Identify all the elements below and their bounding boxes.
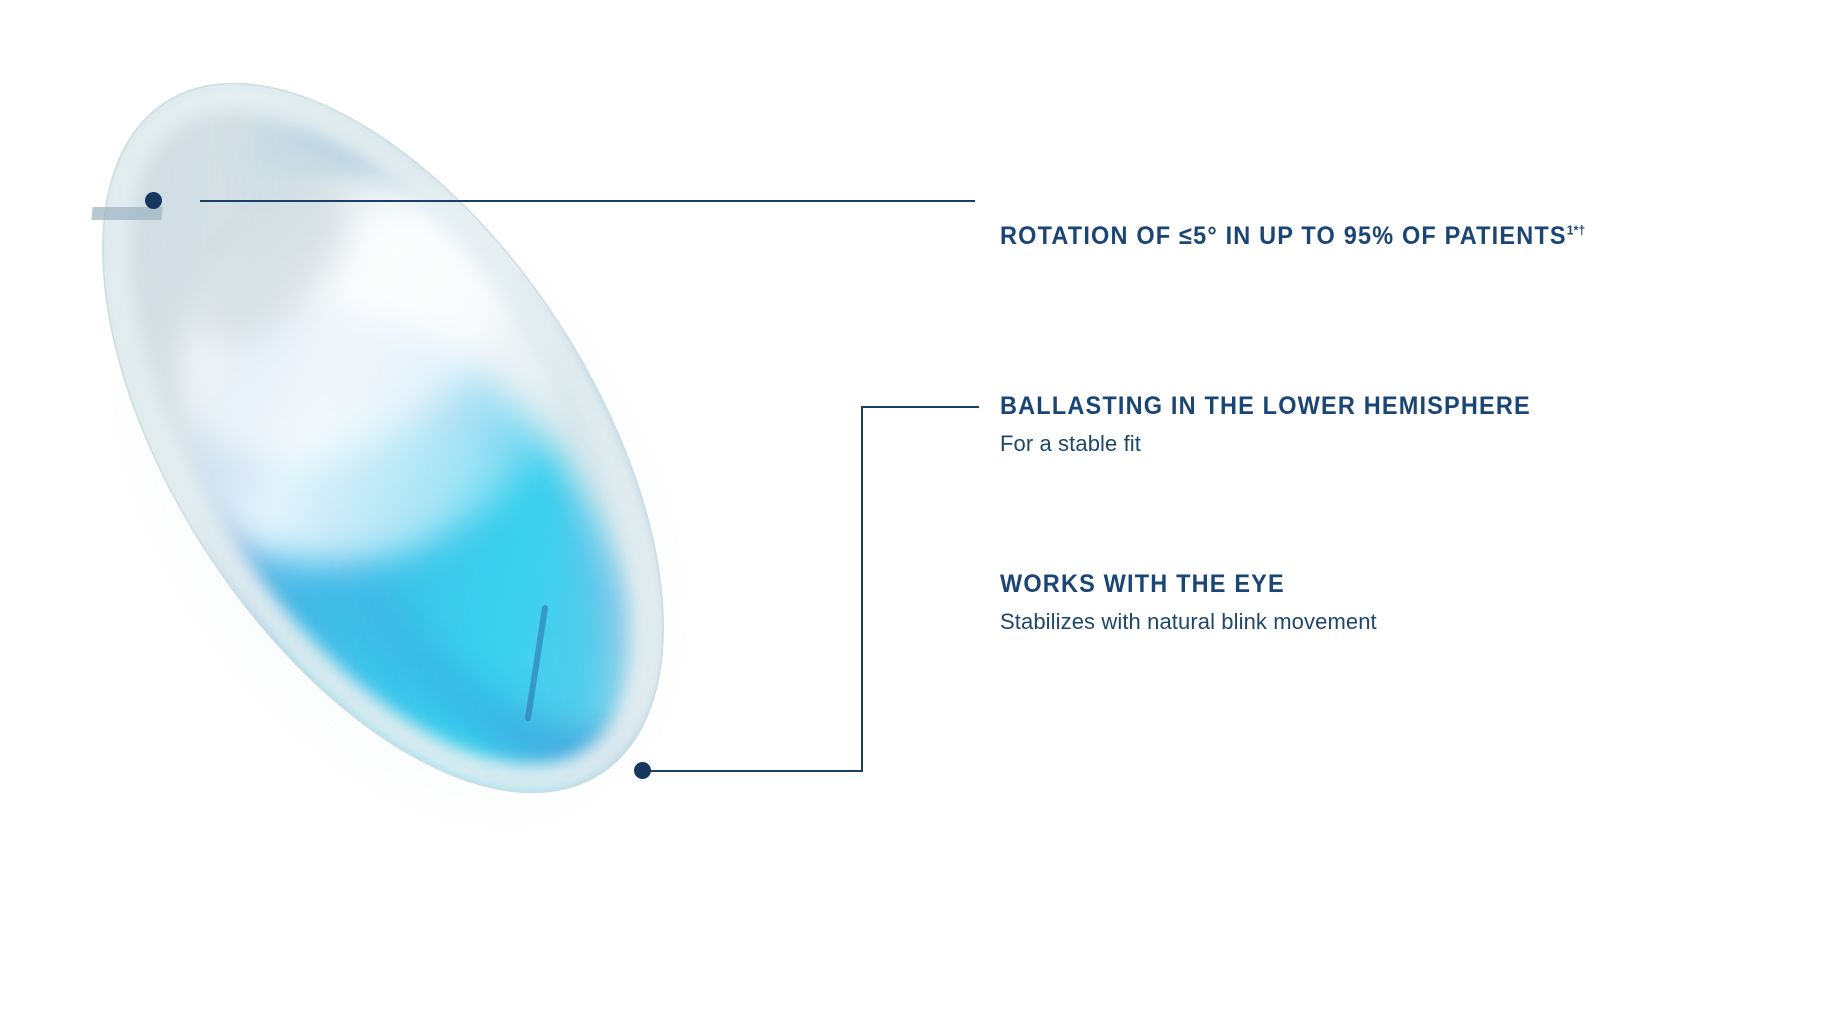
rotation-marker-dot (145, 192, 162, 209)
callout-rotation-heading: ROTATION OF ≤5° IN UP TO 95% OF PATIENTS… (1000, 222, 1585, 251)
lens-shape (48, 18, 748, 878)
diagram-canvas: ROTATION OF ≤5° IN UP TO 95% OF PATIENTS… (0, 0, 1840, 1010)
callout-ballasting-heading: BALLASTING IN THE LOWER HEMISPHERE (1000, 392, 1531, 421)
leader-line-rotation-horizontal (200, 200, 975, 202)
callout-works-with-the-eye-heading: WORKS WITH THE EYE (1000, 570, 1354, 599)
callout-rotation-superscript: 1*† (1567, 223, 1585, 238)
leader-line-ballast-bottom (648, 770, 863, 772)
ballast-marker-dot (634, 762, 651, 779)
callout-ballasting-heading-text: BALLASTING IN THE LOWER HEMISPHERE (1000, 392, 1531, 420)
contact-lens-illustration (48, 18, 748, 878)
leader-line-ballast-top (861, 406, 979, 408)
callout-rotation-heading-text: ROTATION OF ≤5° IN UP TO 95% OF PATIENTS (1000, 222, 1567, 250)
callout-ballasting-body: For a stable fit (1000, 431, 1565, 457)
leader-line-ballast-vertical (861, 406, 863, 772)
callout-works-with-the-eye-body: Stabilizes with natural blink movement (1000, 609, 1377, 635)
callout-works-with-the-eye: WORKS WITH THE EYE Stabilizes with natur… (1000, 570, 1377, 635)
callout-ballasting: BALLASTING IN THE LOWER HEMISPHERE For a… (1000, 392, 1565, 457)
callout-rotation: ROTATION OF ≤5° IN UP TO 95% OF PATIENTS… (1000, 222, 1622, 251)
callout-works-with-the-eye-heading-text: WORKS WITH THE EYE (1000, 570, 1285, 598)
